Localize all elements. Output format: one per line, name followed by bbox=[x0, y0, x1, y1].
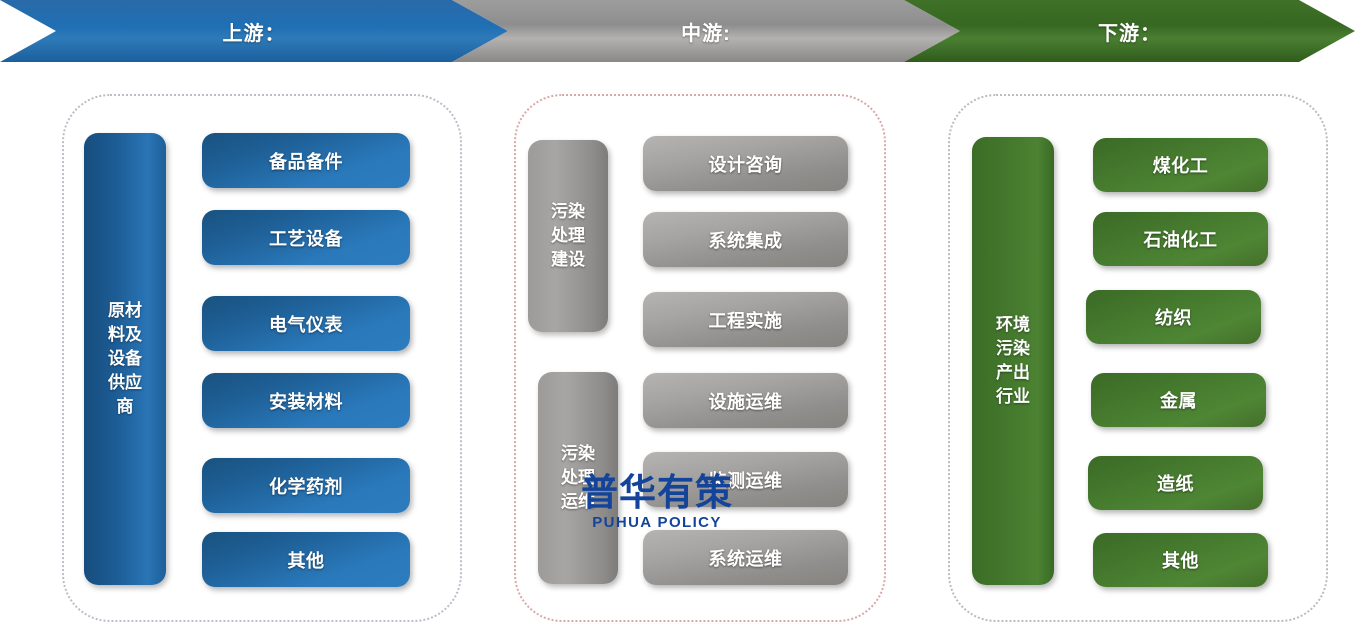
vertical-label-material-equipment-supplier: 原材料及设备供应商 bbox=[84, 133, 166, 585]
vertical-label-pollution-treatment-construction: 污染处理建设 bbox=[528, 140, 608, 332]
chevron-downstream: 下游： bbox=[904, 0, 1355, 62]
pill-downstream-6[interactable]: 其他 bbox=[1093, 533, 1268, 587]
pill-downstream-5[interactable]: 造纸 bbox=[1088, 456, 1263, 510]
pill-label: 电气仪表 bbox=[269, 311, 343, 337]
pill-midstream-1[interactable]: 设计咨询 bbox=[643, 136, 848, 191]
pill-label: 石油化工 bbox=[1144, 226, 1218, 252]
pill-label: 纺织 bbox=[1155, 304, 1192, 330]
chevron-upstream: 上游： bbox=[0, 0, 508, 62]
pill-label: 其他 bbox=[1162, 547, 1199, 573]
pill-midstream-4[interactable]: 设施运维 bbox=[643, 373, 848, 428]
pill-upstream-3[interactable]: 电气仪表 bbox=[202, 296, 410, 351]
vertical-label-text: 环境污染产出行业 bbox=[995, 313, 1031, 410]
pill-label: 设施运维 bbox=[709, 388, 783, 414]
pill-label: 化学药剂 bbox=[269, 473, 343, 499]
vertical-label-text: 污染处理运维 bbox=[560, 442, 596, 514]
pill-upstream-1[interactable]: 备品备件 bbox=[202, 133, 410, 188]
pill-downstream-4[interactable]: 金属 bbox=[1091, 373, 1266, 427]
chevron-upstream-label: 上游： bbox=[223, 17, 286, 46]
value-chain-header-band: 上游： 中游: 下游： bbox=[0, 0, 1355, 62]
pill-label: 系统集成 bbox=[709, 227, 783, 253]
pill-midstream-5[interactable]: 监测运维 bbox=[643, 452, 848, 507]
pill-upstream-5[interactable]: 化学药剂 bbox=[202, 458, 410, 513]
pill-label: 备品备件 bbox=[269, 148, 343, 174]
pill-upstream-4[interactable]: 安装材料 bbox=[202, 373, 410, 428]
pill-downstream-2[interactable]: 石油化工 bbox=[1093, 212, 1268, 266]
pill-label: 监测运维 bbox=[709, 467, 783, 493]
pill-midstream-2[interactable]: 系统集成 bbox=[643, 212, 848, 267]
pill-label: 其他 bbox=[288, 547, 325, 573]
pill-upstream-2[interactable]: 工艺设备 bbox=[202, 210, 410, 265]
chevron-midstream: 中游: bbox=[452, 0, 960, 62]
pill-label: 造纸 bbox=[1157, 470, 1194, 496]
pill-label: 煤化工 bbox=[1153, 152, 1209, 178]
vertical-label-text: 污染处理建设 bbox=[550, 200, 586, 272]
chevron-midstream-label: 中游: bbox=[681, 17, 731, 46]
pill-label: 安装材料 bbox=[269, 388, 343, 414]
pill-label: 金属 bbox=[1160, 387, 1197, 413]
vertical-label-text: 原材料及设备供应商 bbox=[107, 299, 143, 420]
pill-label: 工程实施 bbox=[709, 307, 783, 333]
pill-downstream-3[interactable]: 纺织 bbox=[1086, 290, 1261, 344]
pill-label: 工艺设备 bbox=[269, 225, 343, 251]
pill-label: 设计咨询 bbox=[709, 151, 783, 177]
pill-label: 系统运维 bbox=[709, 545, 783, 571]
pill-midstream-6[interactable]: 系统运维 bbox=[643, 530, 848, 585]
chevron-downstream-label: 下游： bbox=[1098, 17, 1161, 46]
vertical-label-pollution-treatment-operation: 污染处理运维 bbox=[538, 372, 618, 584]
pill-downstream-1[interactable]: 煤化工 bbox=[1093, 138, 1268, 192]
pill-midstream-3[interactable]: 工程实施 bbox=[643, 292, 848, 347]
pill-upstream-6[interactable]: 其他 bbox=[202, 532, 410, 587]
vertical-label-pollution-output-industry: 环境污染产出行业 bbox=[972, 137, 1054, 585]
